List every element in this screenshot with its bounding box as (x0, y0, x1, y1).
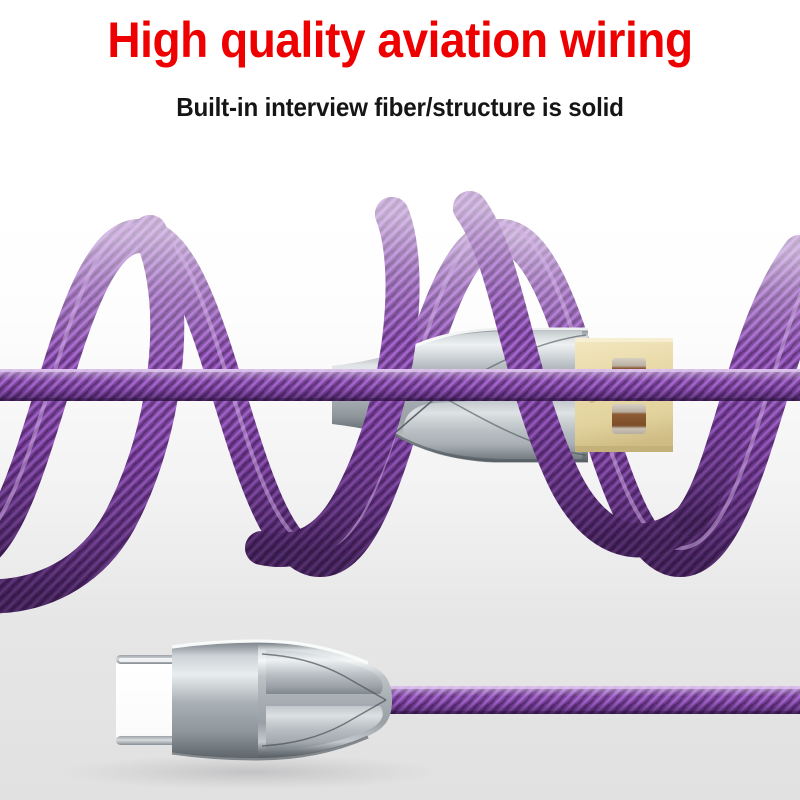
marketing-text-block: High quality aviation wiring Built-in in… (0, 0, 800, 121)
page-title: High quality aviation wiring (32, 0, 768, 67)
cable-straight-lower (380, 686, 800, 714)
page-subtitle: Built-in interview fiber/structure is so… (28, 67, 772, 122)
connector-usb-c (116, 641, 392, 759)
usb-c-tip (116, 655, 178, 745)
cable-straight-upper (0, 369, 800, 401)
usb-a-slot-bottom (612, 404, 646, 434)
product-banner: High quality aviation wiring Built-in in… (0, 0, 800, 800)
